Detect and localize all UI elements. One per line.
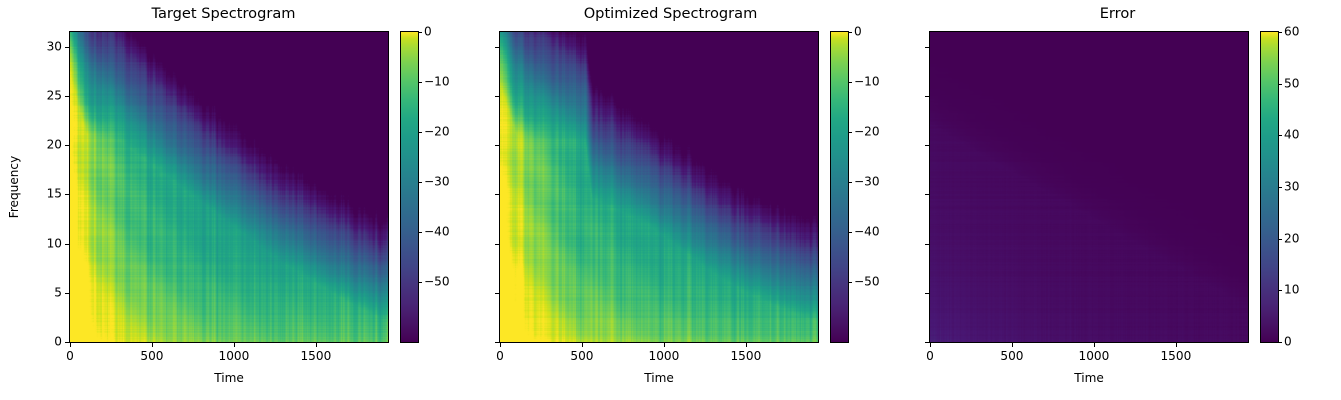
y-tick-mark xyxy=(65,96,69,97)
colorbar-tick-label: −30 xyxy=(854,176,880,189)
y-tick-mark xyxy=(925,194,929,195)
y-tick-mark xyxy=(495,47,499,48)
colorbar-tick-mark xyxy=(848,82,852,83)
colorbar-tick-label: −20 xyxy=(854,126,880,139)
colorbar-tick-mark xyxy=(418,282,422,283)
colorbar-tick-mark xyxy=(1278,187,1282,188)
colorbar-tick-mark xyxy=(1278,342,1282,343)
x-tick-mark xyxy=(1176,343,1177,347)
x-axis-label-optimized: Time xyxy=(644,371,674,385)
colorbar-tick-mark xyxy=(848,282,852,283)
y-tick-label: 5 xyxy=(14,286,62,299)
x-tick-label: 1500 xyxy=(1160,350,1191,363)
colorbar-tick-mark xyxy=(1278,239,1282,240)
y-tick-mark xyxy=(925,293,929,294)
y-tick-mark xyxy=(495,244,499,245)
y-tick-mark xyxy=(65,47,69,48)
y-tick-label: 25 xyxy=(14,89,62,102)
x-tick-mark xyxy=(746,343,747,347)
x-tick-label: 0 xyxy=(496,350,504,363)
x-tick-label: 1500 xyxy=(730,350,761,363)
x-tick-mark xyxy=(316,343,317,347)
colorbar-tick-mark xyxy=(418,132,422,133)
axes-optimized xyxy=(499,31,819,343)
y-tick-mark xyxy=(925,47,929,48)
y-tick-mark xyxy=(65,244,69,245)
x-tick-mark xyxy=(500,343,501,347)
x-axis-label-target: Time xyxy=(214,371,244,385)
x-tick-label: 500 xyxy=(1000,350,1023,363)
y-tick-label: 30 xyxy=(14,40,62,53)
x-tick-label: 1500 xyxy=(300,350,331,363)
x-tick-label: 0 xyxy=(926,350,934,363)
colorbar-tick-label: −50 xyxy=(854,276,880,289)
y-tick-mark xyxy=(495,96,499,97)
colorbar-tick-mark xyxy=(1278,32,1282,33)
colorbar-tick-label: 0 xyxy=(854,26,862,39)
colorbar-tick-label: −40 xyxy=(854,226,880,239)
colorbar-tick-label: −30 xyxy=(424,176,450,189)
x-tick-label: 1000 xyxy=(1079,350,1110,363)
colorbar-tick-label: 20 xyxy=(1284,232,1299,245)
y-tick-mark xyxy=(65,293,69,294)
axes-target xyxy=(69,31,389,343)
colorbar-tick-label: −10 xyxy=(424,76,450,89)
x-tick-mark xyxy=(1094,343,1095,347)
y-axis-label-target: Frequency xyxy=(7,156,21,218)
colorbar-tick-mark xyxy=(1278,290,1282,291)
x-tick-mark xyxy=(664,343,665,347)
colorbar-tick-label: 50 xyxy=(1284,77,1299,90)
y-tick-mark xyxy=(925,96,929,97)
colorbar-tick-mark xyxy=(1278,84,1282,85)
colorbar-tick-mark xyxy=(418,32,422,33)
colorbar-tick-label: 0 xyxy=(424,26,432,39)
y-tick-mark xyxy=(495,194,499,195)
y-tick-label: 10 xyxy=(14,237,62,250)
y-tick-mark xyxy=(65,145,69,146)
y-tick-mark xyxy=(925,145,929,146)
colorbar-tick-mark xyxy=(1278,135,1282,136)
colorbar-tick-mark xyxy=(418,232,422,233)
x-tick-mark xyxy=(152,343,153,347)
y-tick-label: 20 xyxy=(14,139,62,152)
y-tick-mark xyxy=(495,293,499,294)
colorbar-tick-mark xyxy=(848,232,852,233)
x-tick-label: 1000 xyxy=(219,350,250,363)
spectrogram-image-error xyxy=(930,32,1248,342)
x-tick-mark xyxy=(70,343,71,347)
colorbar-tick-label: 60 xyxy=(1284,26,1299,39)
colorbar-tick-label: −40 xyxy=(424,226,450,239)
x-tick-label: 1000 xyxy=(649,350,680,363)
y-tick-mark xyxy=(925,342,929,343)
x-tick-label: 500 xyxy=(140,350,163,363)
colorbar-error xyxy=(1260,31,1279,343)
y-tick-mark xyxy=(495,145,499,146)
y-tick-label: 15 xyxy=(14,188,62,201)
matplotlib-figure: Target Spectrogram Optimized Spectrogram… xyxy=(0,0,1341,400)
x-tick-mark xyxy=(582,343,583,347)
colorbar-tick-mark xyxy=(848,182,852,183)
colorbar-tick-mark xyxy=(418,82,422,83)
colorbar-tick-label: 10 xyxy=(1284,284,1299,297)
y-tick-mark xyxy=(925,244,929,245)
x-tick-mark xyxy=(234,343,235,347)
colorbar-tick-label: −20 xyxy=(424,126,450,139)
spectrogram-image-target xyxy=(70,32,388,342)
colorbar-tick-mark xyxy=(848,32,852,33)
y-tick-mark xyxy=(65,342,69,343)
colorbar-tick-mark xyxy=(848,132,852,133)
x-tick-mark xyxy=(1012,343,1013,347)
colorbar-tick-label: −10 xyxy=(854,76,880,89)
y-tick-label: 0 xyxy=(14,336,62,349)
x-tick-mark xyxy=(930,343,931,347)
colorbar-tick-mark xyxy=(418,182,422,183)
axes-error xyxy=(929,31,1249,343)
colorbar-tick-label: 30 xyxy=(1284,181,1299,194)
colorbar-tick-label: 0 xyxy=(1284,336,1292,349)
y-tick-mark xyxy=(65,194,69,195)
colorbar-tick-label: 40 xyxy=(1284,129,1299,142)
x-axis-label-error: Time xyxy=(1074,371,1104,385)
colorbar-target xyxy=(400,31,419,343)
y-tick-mark xyxy=(495,342,499,343)
spectrogram-image-optimized xyxy=(500,32,818,342)
x-tick-label: 500 xyxy=(570,350,593,363)
colorbar-tick-label: −50 xyxy=(424,276,450,289)
x-tick-label: 0 xyxy=(66,350,74,363)
colorbar-optimized xyxy=(830,31,849,343)
